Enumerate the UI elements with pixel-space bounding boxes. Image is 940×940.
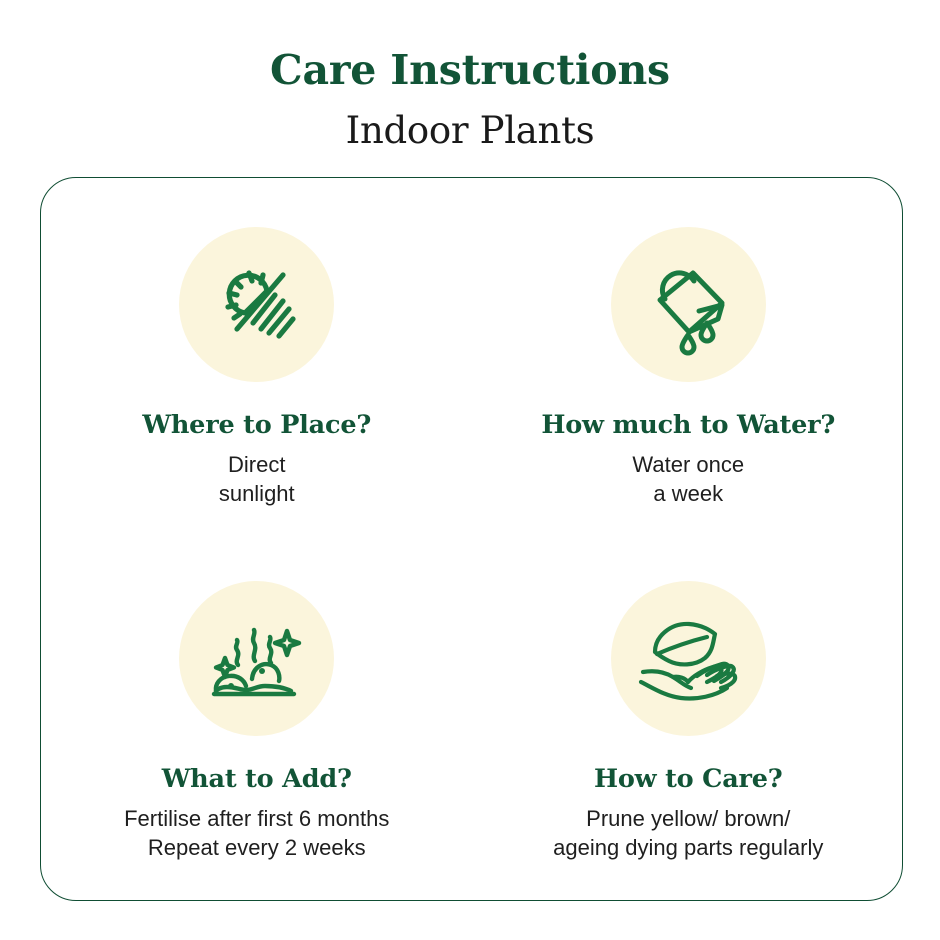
care-card-what-to-add: What to Add? Fertilise after first 6 mon… — [41, 540, 473, 902]
sun-rays-icon — [205, 253, 309, 357]
soil-compost-icon — [205, 607, 309, 711]
care-instructions-infographic: Care Instructions Indoor Plants — [0, 0, 940, 940]
icon-badge — [611, 581, 766, 736]
care-card-how-much-to-water: How much to Water? Water once a week — [473, 178, 905, 540]
icon-badge — [179, 581, 334, 736]
card-title: Where to Place? — [142, 382, 371, 439]
card-description: Water once a week — [632, 439, 744, 508]
card-title: What to Add? — [162, 736, 352, 793]
care-card-where-to-place: Where to Place? Direct sunlight — [41, 178, 473, 540]
page-title: Care Instructions — [0, 0, 940, 91]
watering-can-icon — [636, 253, 740, 357]
card-description: Prune yellow/ brown/ ageing dying parts … — [553, 793, 823, 862]
leaf-in-hand-icon — [635, 606, 741, 712]
page-subtitle: Indoor Plants — [0, 91, 940, 149]
icon-badge — [611, 227, 766, 382]
care-panel: Where to Place? Direct sunlight — [40, 177, 903, 901]
care-card-how-to-care: How to Care? Prune yellow/ brown/ ageing… — [473, 540, 905, 902]
card-description: Fertilise after first 6 months Repeat ev… — [124, 793, 389, 862]
header: Care Instructions Indoor Plants — [0, 0, 940, 149]
care-card-grid: Where to Place? Direct sunlight — [41, 178, 904, 902]
card-title: How to Care? — [594, 736, 783, 793]
card-description: Direct sunlight — [219, 439, 295, 508]
card-title: How much to Water? — [541, 382, 835, 439]
icon-badge — [179, 227, 334, 382]
